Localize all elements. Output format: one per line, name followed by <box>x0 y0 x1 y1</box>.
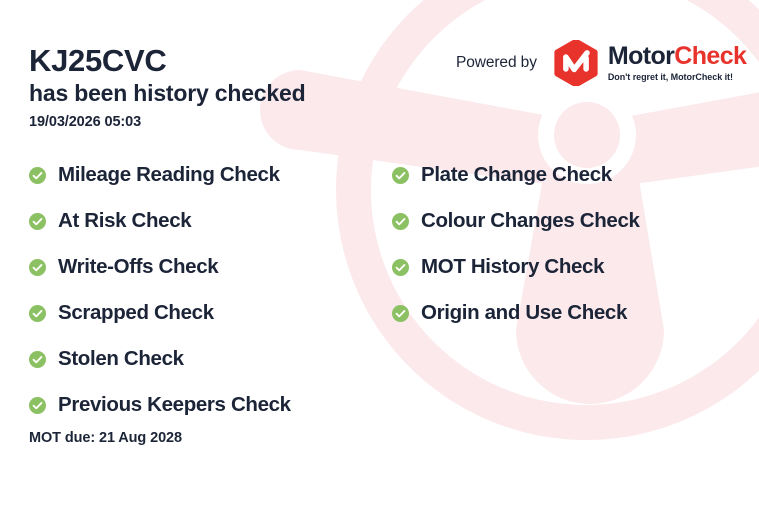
check-list-item: Plate Change Check <box>392 152 640 198</box>
check-label: Write-Offs Check <box>58 255 218 279</box>
motorcheck-hexagon-icon <box>553 40 599 86</box>
check-label: Previous Keepers Check <box>58 393 291 417</box>
checks-right-column: Plate Change Check Colour Changes Check … <box>392 152 640 336</box>
brand-lockup: Powered by MotorCheck Don't regret it, M… <box>456 40 746 86</box>
check-circle-icon <box>392 213 409 230</box>
check-list-item: Mileage Reading Check <box>29 152 291 198</box>
check-circle-icon <box>29 213 46 230</box>
check-label: Colour Changes Check <box>421 209 640 233</box>
check-label: Plate Change Check <box>421 163 612 187</box>
check-list-item: At Risk Check <box>29 198 291 244</box>
check-list-item: Colour Changes Check <box>392 198 640 244</box>
check-circle-icon <box>29 259 46 276</box>
mot-due-text: MOT due: 21 Aug 2028 <box>29 430 182 446</box>
check-timestamp: 19/03/2026 05:03 <box>29 114 305 130</box>
check-circle-icon <box>29 351 46 368</box>
checks-left-column: Mileage Reading Check At Risk Check Writ… <box>29 152 291 428</box>
check-circle-icon <box>392 259 409 276</box>
brand-tagline: Don't regret it, MotorCheck it! <box>608 72 746 82</box>
check-label: Stolen Check <box>58 347 184 371</box>
check-label: Scrapped Check <box>58 301 214 325</box>
check-list-item: MOT History Check <box>392 244 640 290</box>
motorcheck-wordmark: MotorCheck <box>608 44 746 69</box>
check-list-item: Stolen Check <box>29 336 291 382</box>
registration-plate: KJ25CVC <box>29 44 305 77</box>
check-list-item: Previous Keepers Check <box>29 382 291 428</box>
check-circle-icon <box>29 167 46 184</box>
vehicle-history-check-banner: KJ25CVC has been history checked 19/03/2… <box>0 0 759 506</box>
check-list-item: Origin and Use Check <box>392 290 640 336</box>
check-circle-icon <box>392 167 409 184</box>
check-circle-icon <box>29 305 46 322</box>
check-label: At Risk Check <box>58 209 191 233</box>
check-label: Origin and Use Check <box>421 301 627 325</box>
powered-by-label: Powered by <box>456 54 537 72</box>
header-subtitle: has been history checked <box>29 79 305 108</box>
check-circle-icon <box>29 397 46 414</box>
check-list-item: Write-Offs Check <box>29 244 291 290</box>
wordmark-motor: Motor <box>608 42 674 70</box>
check-label: Mileage Reading Check <box>58 163 280 187</box>
header-block: KJ25CVC has been history checked 19/03/2… <box>29 44 305 130</box>
check-label: MOT History Check <box>421 255 604 279</box>
check-list-item: Scrapped Check <box>29 290 291 336</box>
wordmark-check: Check <box>674 42 746 70</box>
check-circle-icon <box>392 305 409 322</box>
